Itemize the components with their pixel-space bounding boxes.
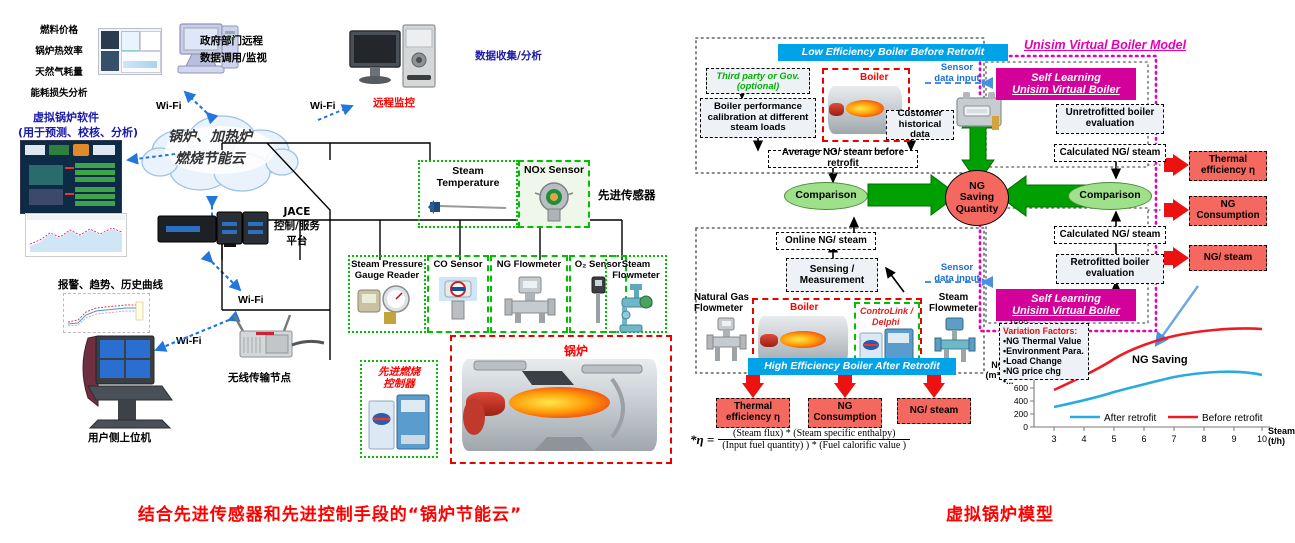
boiler-detail-icon <box>462 359 657 451</box>
controlink-line1: ControLink / <box>860 306 913 316</box>
output-ng-steam-right[interactable]: NG/ steam <box>1189 245 1267 271</box>
left-panel: 燃料价格 锅炉热效率 天然气耗量 能耗损失分析 政府部门远程 数据调用/监视 <box>0 0 680 490</box>
self-learning-top-line1: Self Learning <box>1031 72 1101 84</box>
self-learning-banner-bottom: Self Learning Unisim Virtual Boiler <box>996 289 1136 321</box>
unretrofitted-eval-box[interactable]: Unretrofitted boiler evaluation <box>1056 104 1164 134</box>
steam-flowmeter-label: Steam Flowmeter <box>607 260 665 281</box>
svg-text:6: 6 <box>1141 434 1146 444</box>
left-panel-caption: 结合先进传感器和先进控制手段的“锅炉节能云” <box>0 500 660 525</box>
svg-text:8: 8 <box>1201 434 1206 444</box>
sensor-data-top-line2: data input <box>929 73 985 84</box>
co-sensor-label: CO Sensor <box>433 260 482 271</box>
ng-saving-line2: Saving <box>960 192 994 203</box>
wireless-node-icon <box>230 315 325 367</box>
output-ng-line2: Consumption <box>813 413 876 424</box>
unisim-model-title: Unisim Virtual Boiler Model <box>1024 38 1186 52</box>
steam-flowmeter-label-right: SteamFlowmeter <box>929 292 978 314</box>
output-ng-consumption-bottom[interactable]: NG Consumption <box>808 398 882 428</box>
after-retrofit-band: High Efficiency Boiler After Retrofit <box>748 358 956 375</box>
variation-item: •Environment Para. <box>1003 346 1085 356</box>
jace-label-line2: 控制/服务 <box>274 218 320 233</box>
svg-text:9: 9 <box>1231 434 1236 444</box>
right-panel: Low Efficiency Boiler Before Retrofit Th… <box>686 0 1295 490</box>
before-retrofit-band: Low Efficiency Boiler Before Retrofit <box>778 44 1008 61</box>
variation-item: •NG price chg <box>1003 366 1085 376</box>
ng-saving-quantity-ellipse[interactable]: NG Saving Quantity <box>945 170 1009 226</box>
variation-item: •... <box>1003 376 1085 386</box>
out-thermal-right-l2: efficiency η <box>1201 166 1255 177</box>
svg-text:200: 200 <box>1014 409 1028 419</box>
ng-flowmeter-card[interactable]: NG Flowmeter <box>490 255 568 333</box>
sensor-data-top-line1: Sensor <box>929 62 985 73</box>
svg-text:10: 10 <box>1257 434 1267 444</box>
comparison-after[interactable]: Comparison <box>1068 182 1152 210</box>
svg-text:0: 0 <box>1023 422 1028 432</box>
calculated-ng-top-box[interactable]: Calculated NG/ steam <box>1054 144 1166 162</box>
sensor-data-bot-line1: Sensor <box>929 262 985 273</box>
calculated-ng-bottom-box[interactable]: Calculated NG/ steam <box>1054 226 1166 244</box>
nox-sensor-card[interactable]: NOx Sensor <box>518 160 590 228</box>
co-sensor-icon <box>435 275 481 323</box>
third-party-line1: Third party or Gov. <box>716 71 799 81</box>
steam-temperature-label: Steam Temperature <box>420 166 516 190</box>
third-party-line2: (optional) <box>737 81 779 91</box>
ng-saving-annotation: NG Saving <box>1132 354 1188 366</box>
self-learning-bot-line1: Self Learning <box>1031 293 1101 305</box>
nox-sensor-icon <box>531 179 577 223</box>
alarm-trend-chart <box>63 293 150 333</box>
output-ng-consumption-right[interactable]: NG Consumption <box>1189 196 1267 226</box>
advanced-sensors-label: 先进传感器 <box>598 187 656 203</box>
user-host-label: 用户侧上位机 <box>88 430 151 445</box>
calibration-box[interactable]: Boiler performance calibration at differ… <box>700 98 816 138</box>
chart-xlabel-line1: Steam <box>1268 426 1295 436</box>
svg-text:400: 400 <box>1014 396 1028 406</box>
ng-flowmeter-label: NG Flowmeter <box>497 260 561 271</box>
self-learning-top-line2: Unisim Virtual Boiler <box>1012 84 1120 96</box>
before-boiler-label: Boiler <box>860 72 888 83</box>
chart-xlabel: Steam (t/h) <box>1268 426 1295 446</box>
svg-text:Before retrofit: Before retrofit <box>1202 413 1263 424</box>
alarm-trend-label: 报警、趋势、历史曲线 <box>58 277 163 292</box>
online-ng-box[interactable]: Online NG/ steam <box>776 232 876 250</box>
ng-flowmeter-icon <box>499 275 559 325</box>
steam-pressure-gauge-label: Steam Pressure Gauge Reader <box>350 260 424 281</box>
efficiency-formula: *η = (Steam flux) * (Steam specific enth… <box>690 428 910 451</box>
sensor-data-bot-line2: data input <box>929 273 985 284</box>
natural-gas-flowmeter-icon <box>704 318 748 364</box>
output-thermal-line2b: efficiency η <box>726 413 780 424</box>
jace-controller-icon <box>158 210 268 248</box>
natural-gas-flowmeter-label: Natural GasFlowmeter <box>694 292 749 314</box>
jace-label: JACE 控制/服务 平台 <box>274 206 320 248</box>
nox-sensor-label: NOx Sensor <box>524 165 584 177</box>
retrofitted-eval-box[interactable]: Retrofitted boiler evaluation <box>1056 254 1164 284</box>
self-learning-bot-line2: Unisim Virtual Boiler <box>1012 305 1120 317</box>
steam-pressure-gauge-card[interactable]: Steam Pressure Gauge Reader <box>348 255 426 333</box>
steam-flowmeter-card[interactable]: Steam Flowmeter <box>605 255 667 333</box>
variation-item: •NG Thermal Value <box>1003 336 1085 346</box>
boiler-card[interactable]: 锅炉 <box>450 335 672 464</box>
right-panel-caption: 虚拟锅炉模型 <box>860 500 1140 525</box>
controller-device-icon <box>367 395 431 451</box>
pressure-gauge-icon <box>354 284 420 326</box>
variation-factors-title: Variation Factors: <box>1003 326 1085 336</box>
sensor-data-input-top-label: Sensor data input <box>929 62 985 84</box>
steam-temperature-sensor-card[interactable]: Steam Temperature <box>418 160 518 228</box>
variation-factors-box[interactable]: Variation Factors: •NG Thermal Value •En… <box>999 323 1089 380</box>
formula-numerator: (Steam flux) * (Steam specific enthalpy) <box>729 428 899 439</box>
sensing-measurement-box[interactable]: Sensing / Measurement <box>786 258 878 292</box>
co-sensor-card[interactable]: CO Sensor <box>427 255 489 333</box>
variation-item: •Load Change <box>1003 356 1085 366</box>
jace-label-line3: 平台 <box>274 233 320 248</box>
output-ng-steam-bottom[interactable]: NG/ steam <box>897 398 971 424</box>
self-learning-banner-top: Self Learning Unisim Virtual Boiler <box>996 68 1136 100</box>
svg-text:3: 3 <box>1051 434 1056 444</box>
formula-eta: *η = <box>690 432 714 448</box>
customer-history-box[interactable]: Customer historical data <box>886 110 954 140</box>
advanced-controller-line1: 先进燃烧 <box>378 367 420 379</box>
ng-saving-line3: Quantity <box>956 204 999 215</box>
steam-flowmeter-icon <box>612 283 660 333</box>
sensor-data-input-bottom-label: Sensor data input <box>929 262 985 284</box>
comparison-before[interactable]: Comparison <box>784 182 868 210</box>
svg-text:7: 7 <box>1171 434 1176 444</box>
sensing-line2: Measurement <box>800 275 864 286</box>
user-console-icon <box>70 330 180 430</box>
controlink-line2: Delphi <box>872 317 900 327</box>
svg-text:5: 5 <box>1111 434 1116 444</box>
thermocouple-icon <box>426 198 510 220</box>
formula-denominator: (Input fuel quantity) ) * (Fuel calorifi… <box>718 440 910 451</box>
sensing-line1: Sensing / <box>810 264 854 275</box>
output-thermal-efficiency-bottom[interactable]: Thermal Thermal efficiency η efficiency … <box>716 398 790 428</box>
svg-text:4: 4 <box>1081 434 1086 444</box>
out-ng-right-l2: Consumption <box>1196 211 1259 222</box>
wireless-node-label: 无线传输节点 <box>228 370 291 385</box>
svg-text:After retrofit: After retrofit <box>1104 413 1156 424</box>
chart-xlabel-line2: (t/h) <box>1268 436 1295 446</box>
advanced-controller-line2: 控制器 <box>383 379 415 391</box>
output-thermal-efficiency-right[interactable]: Thermal efficiency η <box>1189 151 1267 181</box>
average-ng-box[interactable]: Average NG/ steam before retrofit <box>768 150 918 168</box>
third-party-box[interactable]: Third party or Gov. (optional) <box>706 68 810 94</box>
boiler-label-cn: 锅炉 <box>564 342 588 359</box>
advanced-controller-card[interactable]: 先进燃烧 控制器 <box>360 360 438 458</box>
after-boiler-label: Boiler <box>790 302 818 313</box>
jace-label-line1: JACE <box>274 206 320 218</box>
